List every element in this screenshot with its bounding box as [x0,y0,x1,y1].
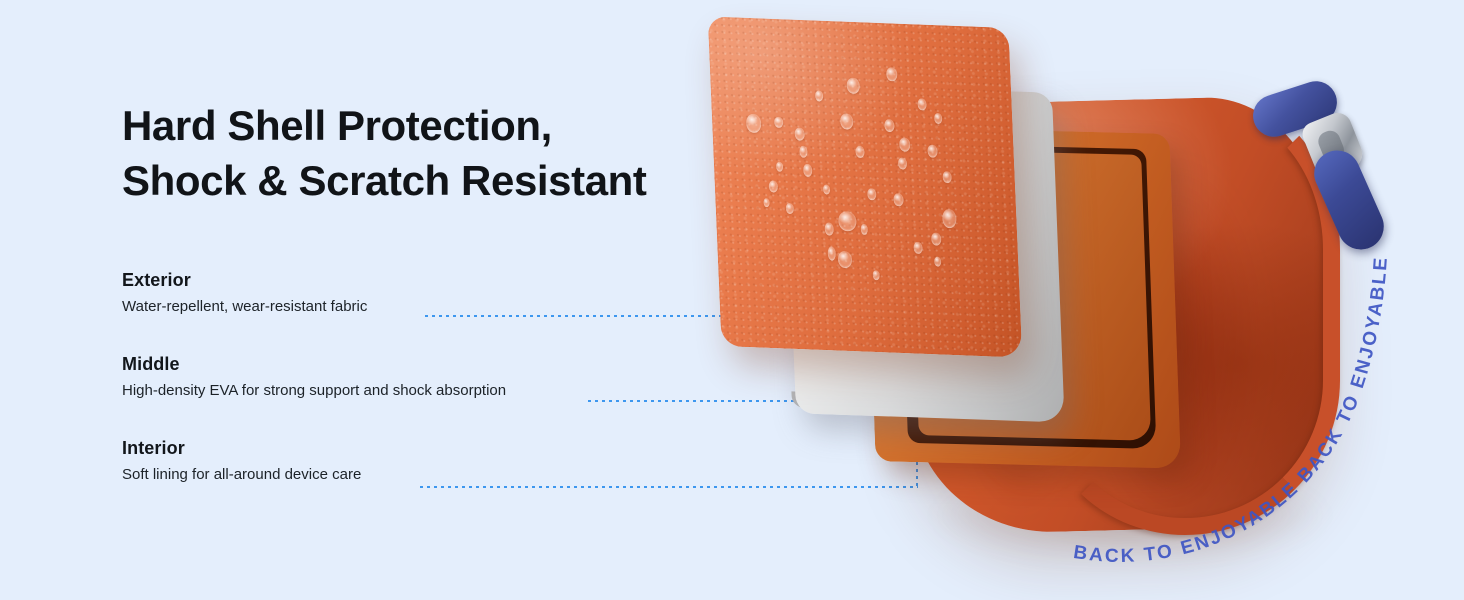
water-droplet [872,270,879,280]
water-droplet [746,114,762,134]
water-droplet [838,211,857,232]
water-droplet [867,188,877,200]
water-droplet [774,117,783,128]
feature-middle: Middle High-density EVA for strong suppo… [122,354,506,400]
water-droplet [931,232,942,245]
water-droplet [899,137,911,151]
product-image: BACK TO ENJOYABLE BACK TO ENJOYABLE [660,0,1464,600]
water-droplet [769,180,779,192]
water-droplet [846,78,860,94]
water-droplet [934,256,941,266]
feature-exterior: Exterior Water-repellent, wear-resistant… [122,270,367,316]
layer-exterior-fabric [708,16,1023,357]
water-droplet [893,193,904,206]
feature-interior-description: Soft lining for all-around device care [122,466,361,484]
water-droplet [886,67,898,81]
feature-middle-title: Middle [122,354,506,374]
water-droplet [917,98,927,110]
water-droplet [815,90,823,101]
water-droplet [942,171,952,183]
water-droplet [763,198,769,207]
water-droplet [855,146,865,158]
water-droplet [786,203,794,214]
water-droplet [824,222,834,235]
water-droplet [776,162,783,172]
water-droplet [861,224,868,235]
water-droplet [884,119,895,132]
water-droplet [942,209,957,229]
water-droplet [838,251,853,269]
feature-middle-description: High-density EVA for strong support and … [122,382,506,400]
fabric-grain-texture-coarse [708,16,1023,357]
water-droplet [823,184,830,194]
water-droplet [927,145,938,158]
water-droplet [827,246,836,260]
infographic-canvas: Hard Shell Protection, Shock & Scratch R… [0,0,1464,600]
water-droplet [803,164,813,177]
feature-exterior-title: Exterior [122,270,367,290]
water-droplet [898,157,908,169]
water-droplet [794,127,805,140]
feature-interior: Interior Soft lining for all-around devi… [122,438,361,484]
feature-exterior-description: Water-repellent, wear-resistant fabric [122,298,367,316]
water-droplet [913,242,923,254]
water-droplet [934,113,942,124]
feature-interior-title: Interior [122,438,361,458]
water-droplet [840,113,854,129]
page-title: Hard Shell Protection, Shock & Scratch R… [122,98,647,208]
water-droplet [799,146,808,158]
